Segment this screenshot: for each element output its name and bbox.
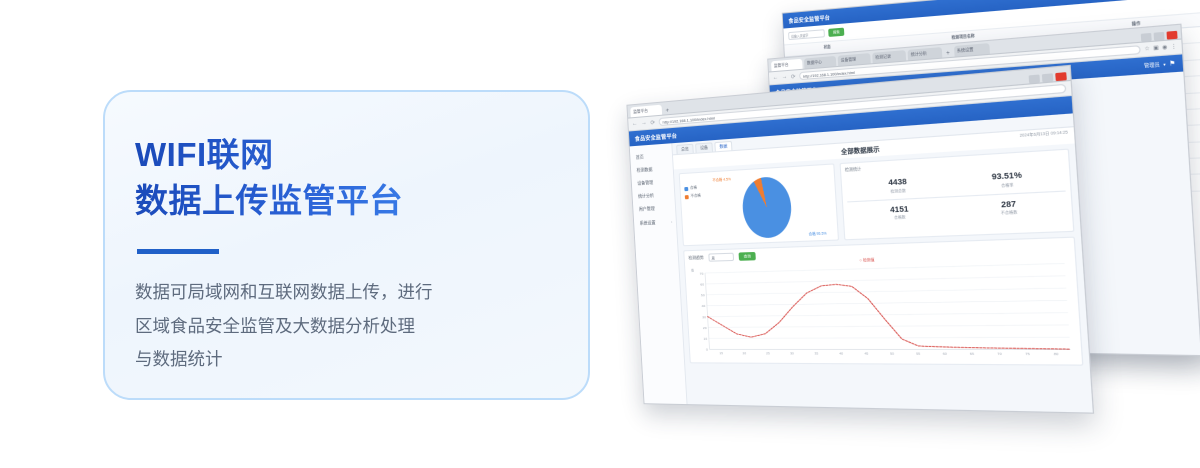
svg-text:65: 65 [970, 352, 975, 356]
legend-item-pass: 合格 [684, 185, 700, 191]
svg-text:15: 15 [719, 351, 723, 355]
svg-text:50: 50 [890, 352, 895, 356]
svg-text:60: 60 [700, 283, 704, 287]
trend-search-button[interactable]: 查询 [739, 252, 757, 261]
svg-text:50: 50 [701, 293, 705, 297]
stats-panel: 检测统计 4438 检测总数 93.51% 合格率 [839, 149, 1074, 241]
chevron-right-icon: › [671, 220, 672, 224]
pie-graphic [741, 176, 793, 239]
svg-text:70: 70 [700, 272, 704, 276]
bell-icon[interactable]: ⚑ [1169, 60, 1176, 68]
svg-text:70: 70 [997, 352, 1002, 356]
promo-banner: WIFI联网 数据上传监管平台 数据可局域网和互联网数据上传，进行 区域食品安全… [0, 0, 1200, 468]
reload-icon[interactable]: ⟳ [791, 73, 797, 80]
minimize-button[interactable] [1141, 33, 1152, 42]
svg-text:20: 20 [703, 326, 707, 330]
forward-icon[interactable]: → [782, 74, 789, 80]
browser-window-dashboard: 监管平台 + ← → ⟳ http://192.168.1.100/index.… [626, 65, 1094, 414]
promo-description: 数据可局域网和互联网数据上传，进行 区域食品安全监管及大数据分析处理 与数据统计 [135, 276, 588, 377]
svg-text:30: 30 [702, 315, 706, 319]
promo-title: WIFI联网 数据上传监管平台 [135, 132, 588, 223]
pie-label-fail: 不合格 4.5% [712, 176, 731, 182]
svg-text:40: 40 [701, 304, 705, 308]
pie-chart-panel: 合格 不合格 不合格 4.5% 合格 95.5% [679, 163, 839, 246]
extension-icon[interactable]: ▣ [1153, 45, 1159, 52]
app-brand-front: 食品安全监管平台 [635, 131, 678, 142]
screenshot-stack: 食品安全监管平台 管理员 ▾ ⚑ 请输入关键字 搜索 状态 检测项目名称 [615, 0, 1200, 468]
legend-swatch-pass [684, 186, 688, 190]
close-button[interactable] [1166, 31, 1177, 40]
tab-devices[interactable]: 设备 [695, 142, 713, 152]
sidebar-item-settings[interactable]: 系统设置 › [634, 215, 676, 230]
trend-filter-label: 检测趋势 [688, 255, 704, 262]
maximize-button[interactable] [1154, 32, 1165, 41]
line-chart-svg: 7060504030201001520253035404550556065707… [689, 259, 1077, 361]
new-tab-button[interactable]: + [944, 50, 952, 57]
svg-text:35: 35 [814, 352, 819, 356]
svg-text:60: 60 [943, 352, 948, 356]
svg-text:20: 20 [743, 351, 747, 355]
promo-card: WIFI联网 数据上传监管平台 数据可局域网和互联网数据上传，进行 区域食品安全… [103, 90, 590, 400]
svg-text:0: 0 [706, 348, 708, 352]
trend-plot: 值 70605040302010015202530354045505560657… [689, 259, 1077, 361]
title-divider [137, 249, 219, 254]
stats-grid: 4438 检测总数 93.51% 合格率 4151 合格数 [845, 163, 1067, 227]
close-button[interactable] [1055, 72, 1067, 81]
app-brand-back: 食品安全监管平台 [788, 13, 830, 25]
back-icon[interactable]: ← [773, 75, 780, 81]
stat-fail-count: 287 不合格数 [952, 191, 1067, 223]
app-body-front: 首页 检测数据 设备管理 统计分析 用户管理 系统设置 › 总览 设备 数据 [630, 113, 1093, 412]
stat-pass-count: 4151 合格数 [847, 197, 954, 228]
svg-text:30: 30 [790, 352, 794, 356]
table-search-input[interactable]: 请输入关键字 [788, 29, 825, 40]
forward-icon[interactable]: → [641, 120, 648, 127]
svg-text:10: 10 [703, 337, 707, 341]
maximize-button[interactable] [1042, 73, 1053, 82]
reload-icon[interactable]: ⟳ [650, 119, 656, 126]
y-axis-label: 值 [691, 268, 694, 272]
table-search-button[interactable]: 搜索 [828, 28, 844, 37]
svg-text:45: 45 [864, 352, 869, 356]
chevron-down-icon: ▾ [1163, 61, 1166, 67]
pie-legend: 合格 不合格 [684, 177, 701, 199]
svg-text:25: 25 [766, 351, 770, 355]
tab-overview[interactable]: 总览 [676, 144, 694, 154]
svg-text:80: 80 [1054, 352, 1059, 356]
user-menu-middle[interactable]: 管理员 ▾ ⚑ [1144, 60, 1176, 70]
pie-label-pass: 合格 95.5% [808, 230, 826, 236]
menu-icon[interactable]: ⋮ [1171, 43, 1177, 50]
tab-data[interactable]: 数据 [714, 141, 732, 152]
svg-text:55: 55 [916, 352, 921, 356]
dashboard-content: 总览 设备 数据 全部数据展示 2024年6月13日 09:14:25 [672, 113, 1093, 412]
svg-text:40: 40 [839, 352, 844, 356]
new-tab-button-front[interactable]: + [664, 108, 671, 115]
trend-chart-card: 检测趋势 周 查询 ○ 检测值 值 7060504030201001520253… [683, 237, 1083, 366]
star-icon[interactable]: ☆ [1144, 46, 1150, 53]
toolbar-icons: ☆ ▣ ◉ ⋮ [1144, 43, 1177, 52]
legend-item-fail: 不合格 [685, 193, 701, 199]
svg-text:75: 75 [1025, 352, 1030, 356]
profile-icon[interactable]: ◉ [1162, 44, 1168, 51]
page-title: 全部数据展示 [841, 144, 880, 156]
legend-swatch-fail [685, 195, 689, 199]
back-icon[interactable]: ← [632, 121, 639, 128]
user-label-middle: 管理员 [1144, 61, 1160, 69]
trend-filter-input[interactable]: 周 [708, 253, 734, 262]
minimize-button[interactable] [1029, 74, 1040, 83]
pie-chart: 不合格 4.5% 合格 95.5% [703, 169, 833, 240]
timestamp: 2024年6月13日 09:14:25 [1019, 130, 1068, 139]
